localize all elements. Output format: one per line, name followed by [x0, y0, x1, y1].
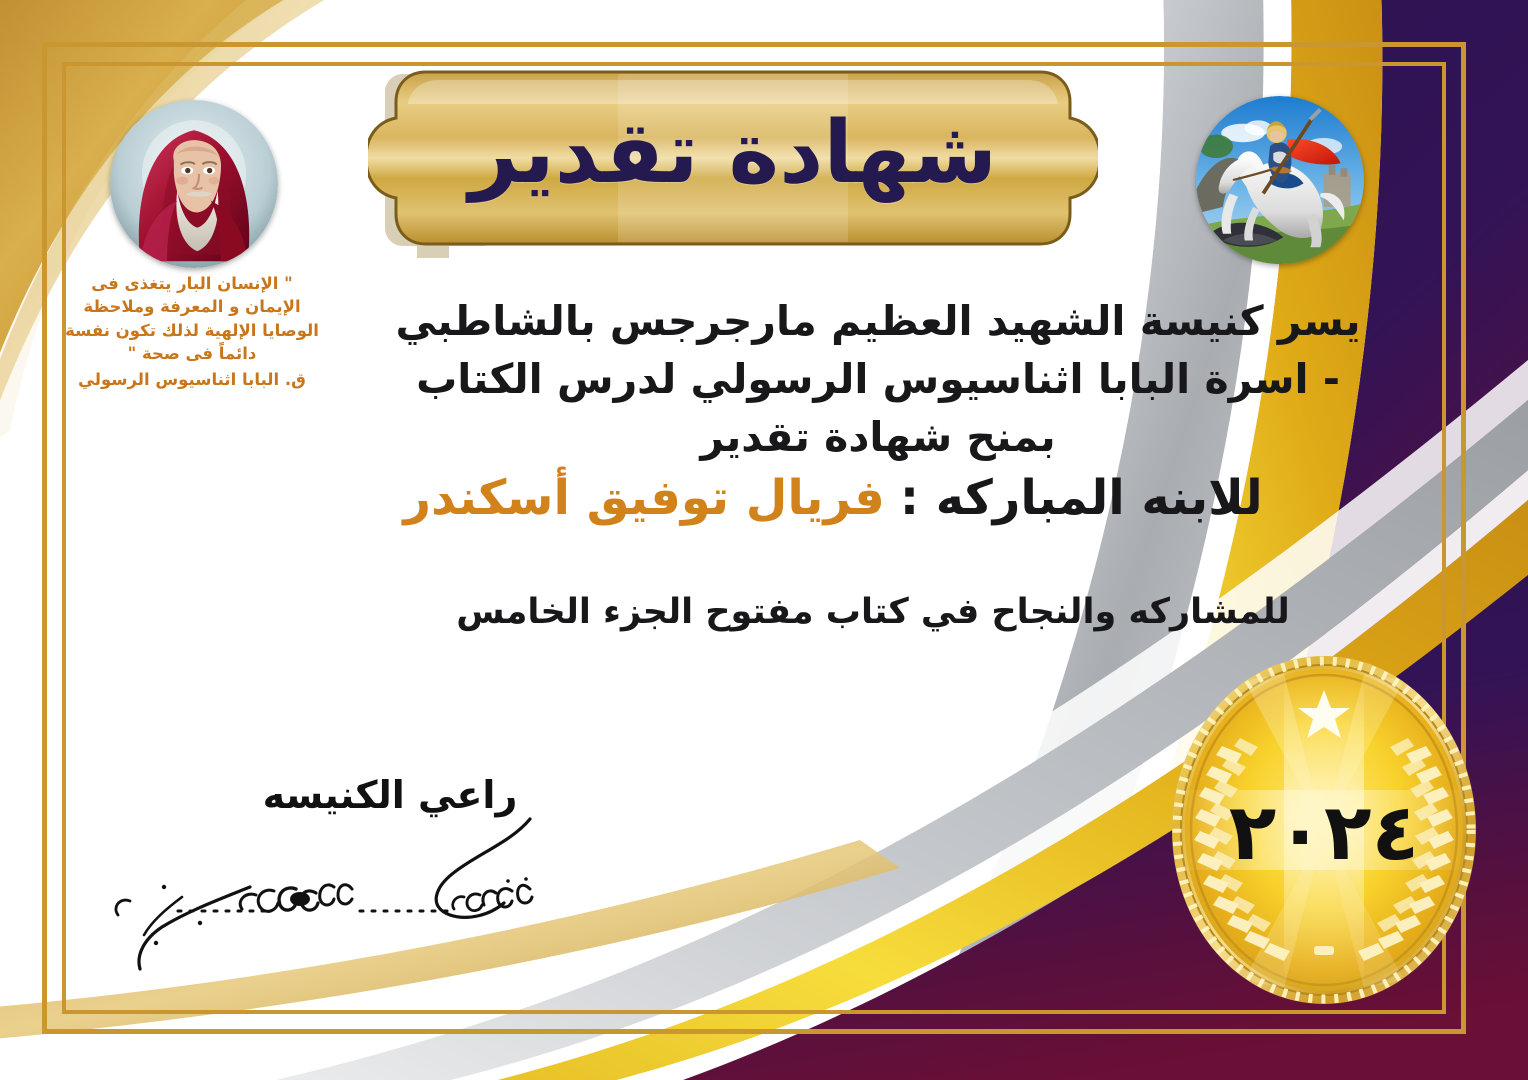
reason-text: للمشاركه والنجاح في كتاب مفتوح الجزء الخ…: [418, 592, 1328, 632]
quote-author: ق. البابا اثناسيوس الرسولي: [62, 368, 322, 391]
body-line-1: يسر كنيسة الشهيد العظيم مارجرجس بالشاطبي: [378, 292, 1378, 350]
page-title: شهادة تقدير: [368, 58, 1098, 258]
saint-athanasius-portrait-icon: [110, 100, 278, 268]
title-plaque: شهادة تقدير: [368, 58, 1098, 258]
signature-title: راعي الكنيسه: [180, 775, 600, 817]
saint-george-on-horseback-icon: [1196, 96, 1364, 264]
recipient-name: فريال توفيق أسكندر: [403, 470, 884, 526]
certificate-page: " الإنسان البار يتغذى فى الإيمان و المعر…: [0, 0, 1528, 1080]
body-line-2: - اسرة البابا اثناسيوس الرسولي لدرس الكت…: [378, 350, 1378, 408]
year-medal-seal: ٢٠٢٤: [1164, 650, 1484, 1010]
quote-text: " الإنسان البار يتغذى فى الإيمان و المعر…: [65, 274, 319, 363]
quote-block: " الإنسان البار يتغذى فى الإيمان و المعر…: [62, 272, 322, 391]
year-value: ٢٠٢٤: [1164, 650, 1484, 1010]
recipient-label: للابنه المباركه :: [900, 470, 1263, 526]
body-line-3: بمنح شهادة تقدير: [378, 408, 1378, 466]
body-text: يسر كنيسة الشهيد العظيم مارجرجس بالشاطبي…: [378, 292, 1378, 467]
recipient-row: للابنه المباركه : فريال توفيق أسكندر: [368, 470, 1298, 526]
signature-ink-strokes: [60, 815, 580, 975]
signature-block: راعي الكنيسه: [180, 775, 600, 817]
